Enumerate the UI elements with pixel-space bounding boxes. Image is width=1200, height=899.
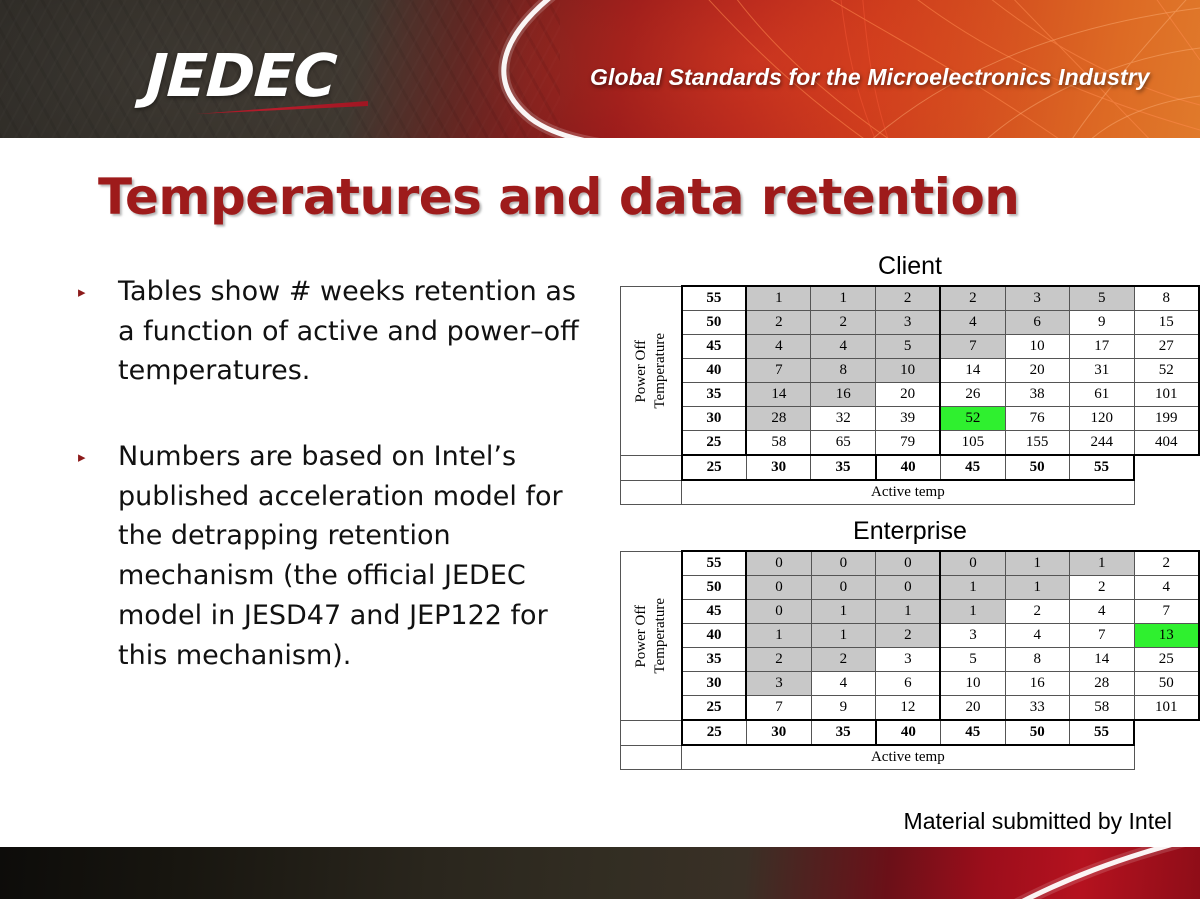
client-cell: 52 bbox=[940, 407, 1005, 431]
enterprise-cell: 4 bbox=[811, 672, 876, 696]
client-cell: 2 bbox=[876, 286, 941, 311]
client-cell: 65 bbox=[811, 431, 876, 456]
table-row: 4011234713 bbox=[621, 624, 1200, 648]
enterprise-cell: 1 bbox=[1005, 551, 1069, 576]
client-col-header: 50 bbox=[1005, 455, 1069, 480]
client-cell: 4 bbox=[746, 335, 811, 359]
client-cell: 17 bbox=[1069, 335, 1134, 359]
client-cell: 3 bbox=[876, 311, 941, 335]
enterprise-cell: 50 bbox=[1134, 672, 1199, 696]
client-axis-label-power-off-temperature: Power Off Temperature bbox=[621, 286, 682, 455]
enterprise-spacer bbox=[621, 720, 682, 745]
client-cell: 244 bbox=[1069, 431, 1134, 456]
enterprise-table-block: Enterprise Power Off Temperature55000011… bbox=[620, 517, 1200, 770]
client-cell: 14 bbox=[940, 359, 1005, 383]
client-cell: 20 bbox=[876, 383, 941, 407]
enterprise-cell: 4 bbox=[1069, 600, 1134, 624]
client-cell: 52 bbox=[1134, 359, 1199, 383]
enterprise-cell: 0 bbox=[746, 551, 811, 576]
enterprise-cell: 0 bbox=[876, 576, 941, 600]
client-cell: 76 bbox=[1005, 407, 1069, 431]
enterprise-cell: 7 bbox=[746, 696, 811, 721]
enterprise-cell: 2 bbox=[876, 624, 941, 648]
enterprise-cell: 2 bbox=[1134, 551, 1199, 576]
client-cell: 26 bbox=[940, 383, 1005, 407]
page-title: Temperatures and data retention bbox=[98, 168, 1019, 226]
client-cell: 2 bbox=[746, 311, 811, 335]
enterprise-col-header: 50 bbox=[1005, 720, 1069, 745]
client-cell: 58 bbox=[746, 431, 811, 456]
table-row: 257912203358101 bbox=[621, 696, 1200, 721]
enterprise-cell: 2 bbox=[746, 648, 811, 672]
enterprise-cell: 4 bbox=[1134, 576, 1199, 600]
enterprise-cell: 2 bbox=[1069, 576, 1134, 600]
enterprise-col-header: 25 bbox=[682, 720, 747, 745]
enterprise-cell: 1 bbox=[940, 576, 1005, 600]
table-row: 25303540455055 bbox=[621, 455, 1200, 480]
enterprise-cell: 16 bbox=[1005, 672, 1069, 696]
enterprise-row-header: 40 bbox=[682, 624, 747, 648]
table-row: 35141620263861101 bbox=[621, 383, 1200, 407]
enterprise-cell: 1 bbox=[746, 624, 811, 648]
attribution-text: Material submitted by Intel bbox=[904, 808, 1172, 835]
client-cell: 7 bbox=[940, 335, 1005, 359]
enterprise-cell: 8 bbox=[1005, 648, 1069, 672]
table-row: 450111247 bbox=[621, 600, 1200, 624]
client-col-header: 55 bbox=[1069, 455, 1134, 480]
client-cell: 6 bbox=[1005, 311, 1069, 335]
table-row: 5022346915 bbox=[621, 311, 1200, 335]
enterprise-cell: 2 bbox=[811, 648, 876, 672]
client-cell: 10 bbox=[876, 359, 941, 383]
enterprise-cell: 7 bbox=[1069, 624, 1134, 648]
table-row: 500001124 bbox=[621, 576, 1200, 600]
client-table-block: Client Power Off Temperature551122358502… bbox=[620, 252, 1200, 505]
table-row: 302832395276120199 bbox=[621, 407, 1200, 431]
client-col-header: 40 bbox=[876, 455, 941, 480]
enterprise-cell: 10 bbox=[940, 672, 1005, 696]
client-cell: 9 bbox=[1069, 311, 1134, 335]
client-cell: 32 bbox=[811, 407, 876, 431]
client-cell: 1 bbox=[811, 286, 876, 311]
client-cell: 61 bbox=[1069, 383, 1134, 407]
enterprise-cell: 1 bbox=[811, 624, 876, 648]
enterprise-cell: 1 bbox=[876, 600, 941, 624]
client-cell: 8 bbox=[811, 359, 876, 383]
enterprise-cell: 5 bbox=[940, 648, 1005, 672]
client-cell: 101 bbox=[1134, 383, 1199, 407]
enterprise-cell: 58 bbox=[1069, 696, 1134, 721]
bullet-text: Numbers are based on Intel’s published a… bbox=[118, 437, 598, 675]
client-cell: 105 bbox=[940, 431, 1005, 456]
table-row: Power Off Temperature550000112 bbox=[621, 551, 1200, 576]
bullet-arrow-icon: ▸ bbox=[78, 437, 118, 465]
table-row: Power Off Temperature551122358 bbox=[621, 286, 1200, 311]
client-cell: 7 bbox=[746, 359, 811, 383]
client-row-header: 35 bbox=[682, 383, 747, 407]
client-cell: 31 bbox=[1069, 359, 1134, 383]
enterprise-cell: 9 bbox=[811, 696, 876, 721]
client-cell: 199 bbox=[1134, 407, 1199, 431]
header-tagline: Global Standards for the Microelectronic… bbox=[590, 64, 1150, 91]
enterprise-row-header: 50 bbox=[682, 576, 747, 600]
enterprise-cell: 0 bbox=[876, 551, 941, 576]
client-row-header: 55 bbox=[682, 286, 747, 311]
enterprise-cell: 0 bbox=[746, 576, 811, 600]
enterprise-row-header: 55 bbox=[682, 551, 747, 576]
slide: JEDEC Global Standards for the Microelec… bbox=[0, 0, 1200, 899]
client-cell: 39 bbox=[876, 407, 941, 431]
client-cell: 20 bbox=[1005, 359, 1069, 383]
table-row: 3034610162850 bbox=[621, 672, 1200, 696]
client-cell: 27 bbox=[1134, 335, 1199, 359]
enterprise-row-header: 30 bbox=[682, 672, 747, 696]
client-cell: 5 bbox=[1069, 286, 1134, 311]
enterprise-cell: 7 bbox=[1134, 600, 1199, 624]
enterprise-cell: 25 bbox=[1134, 648, 1199, 672]
enterprise-cell: 12 bbox=[876, 696, 941, 721]
enterprise-cell: 3 bbox=[876, 648, 941, 672]
client-spacer bbox=[621, 455, 682, 480]
enterprise-cell: 3 bbox=[940, 624, 1005, 648]
enterprise-cell: 28 bbox=[1069, 672, 1134, 696]
enterprise-cell: 101 bbox=[1134, 696, 1199, 721]
client-row-header: 40 bbox=[682, 359, 747, 383]
client-col-header: 25 bbox=[682, 455, 747, 480]
enterprise-cell: 1 bbox=[1005, 576, 1069, 600]
enterprise-axis-label-active-temp: Active temp bbox=[682, 745, 1134, 770]
enterprise-cell: 0 bbox=[746, 600, 811, 624]
enterprise-col-header: 55 bbox=[1069, 720, 1134, 745]
client-col-header: 30 bbox=[746, 455, 811, 480]
enterprise-col-header: 40 bbox=[876, 720, 941, 745]
client-cell: 10 bbox=[1005, 335, 1069, 359]
client-cell: 2 bbox=[811, 311, 876, 335]
enterprise-cell: 33 bbox=[1005, 696, 1069, 721]
client-cell: 38 bbox=[1005, 383, 1069, 407]
bullet-list: ▸ Tables show # weeks retention as a fun… bbox=[78, 272, 598, 675]
client-cell: 4 bbox=[940, 311, 1005, 335]
client-col-header: 35 bbox=[811, 455, 876, 480]
header-banner: JEDEC Global Standards for the Microelec… bbox=[0, 0, 1200, 138]
enterprise-spacer bbox=[621, 745, 682, 770]
client-cell: 404 bbox=[1134, 431, 1199, 456]
enterprise-cell: 2 bbox=[1005, 600, 1069, 624]
enterprise-axis-label-power-off-temperature: Power Off Temperature bbox=[621, 551, 682, 720]
client-axis-label-active-temp: Active temp bbox=[682, 480, 1135, 505]
bullet-text: Tables show # weeks retention as a funct… bbox=[118, 272, 598, 391]
enterprise-cell: 4 bbox=[1005, 624, 1069, 648]
enterprise-row-header: 45 bbox=[682, 600, 747, 624]
client-cell: 155 bbox=[1005, 431, 1069, 456]
enterprise-cell: 3 bbox=[746, 672, 811, 696]
enterprise-col-header: 45 bbox=[940, 720, 1005, 745]
enterprise-cell: 1 bbox=[811, 600, 876, 624]
enterprise-cell: 13 bbox=[1134, 624, 1199, 648]
enterprise-cell: 6 bbox=[876, 672, 941, 696]
enterprise-cell: 14 bbox=[1069, 648, 1134, 672]
client-cell: 2 bbox=[940, 286, 1005, 311]
enterprise-cell: 1 bbox=[940, 600, 1005, 624]
enterprise-cell: 0 bbox=[811, 551, 876, 576]
enterprise-table-caption: Enterprise bbox=[620, 517, 1200, 546]
jedec-logo: JEDEC bbox=[144, 46, 337, 105]
enterprise-cell: 0 bbox=[811, 576, 876, 600]
client-cell: 16 bbox=[811, 383, 876, 407]
footer-banner bbox=[0, 847, 1200, 899]
client-row-header: 50 bbox=[682, 311, 747, 335]
client-cell: 120 bbox=[1069, 407, 1134, 431]
client-cell: 8 bbox=[1134, 286, 1199, 311]
enterprise-col-header: 30 bbox=[746, 720, 811, 745]
client-cell: 15 bbox=[1134, 311, 1199, 335]
table-row: 25303540455055 bbox=[621, 720, 1200, 745]
enterprise-row-header: 35 bbox=[682, 648, 747, 672]
list-item: ▸ Numbers are based on Intel’s published… bbox=[78, 437, 598, 675]
client-spacer bbox=[621, 480, 682, 505]
enterprise-cell: 20 bbox=[940, 696, 1005, 721]
enterprise-cell: 0 bbox=[940, 551, 1005, 576]
enterprise-cell: 1 bbox=[1069, 551, 1134, 576]
client-cell: 4 bbox=[811, 335, 876, 359]
client-cell: 14 bbox=[746, 383, 811, 407]
client-table-caption: Client bbox=[620, 252, 1200, 281]
client-cell: 79 bbox=[876, 431, 941, 456]
footer-line-art bbox=[0, 847, 1200, 899]
client-cell: 28 bbox=[746, 407, 811, 431]
table-row: 40781014203152 bbox=[621, 359, 1200, 383]
client-row-header: 45 bbox=[682, 335, 747, 359]
table-row: 35223581425 bbox=[621, 648, 1200, 672]
enterprise-row-header: 25 bbox=[682, 696, 747, 721]
table-row: Active temp bbox=[621, 745, 1200, 770]
client-row-header: 30 bbox=[682, 407, 747, 431]
client-cell: 5 bbox=[876, 335, 941, 359]
client-row-header: 25 bbox=[682, 431, 747, 456]
client-cell: 1 bbox=[746, 286, 811, 311]
bullet-arrow-icon: ▸ bbox=[78, 272, 118, 300]
enterprise-retention-table: Power Off Temperature5500001125000011244… bbox=[620, 550, 1200, 770]
client-col-header: 45 bbox=[940, 455, 1005, 480]
table-row: 454457101727 bbox=[621, 335, 1200, 359]
client-retention-table: Power Off Temperature5511223585022346915… bbox=[620, 285, 1200, 505]
list-item: ▸ Tables show # weeks retention as a fun… bbox=[78, 272, 598, 391]
table-row: Active temp bbox=[621, 480, 1200, 505]
enterprise-col-header: 35 bbox=[811, 720, 876, 745]
client-cell: 3 bbox=[1005, 286, 1069, 311]
table-row: 25586579105155244404 bbox=[621, 431, 1200, 456]
